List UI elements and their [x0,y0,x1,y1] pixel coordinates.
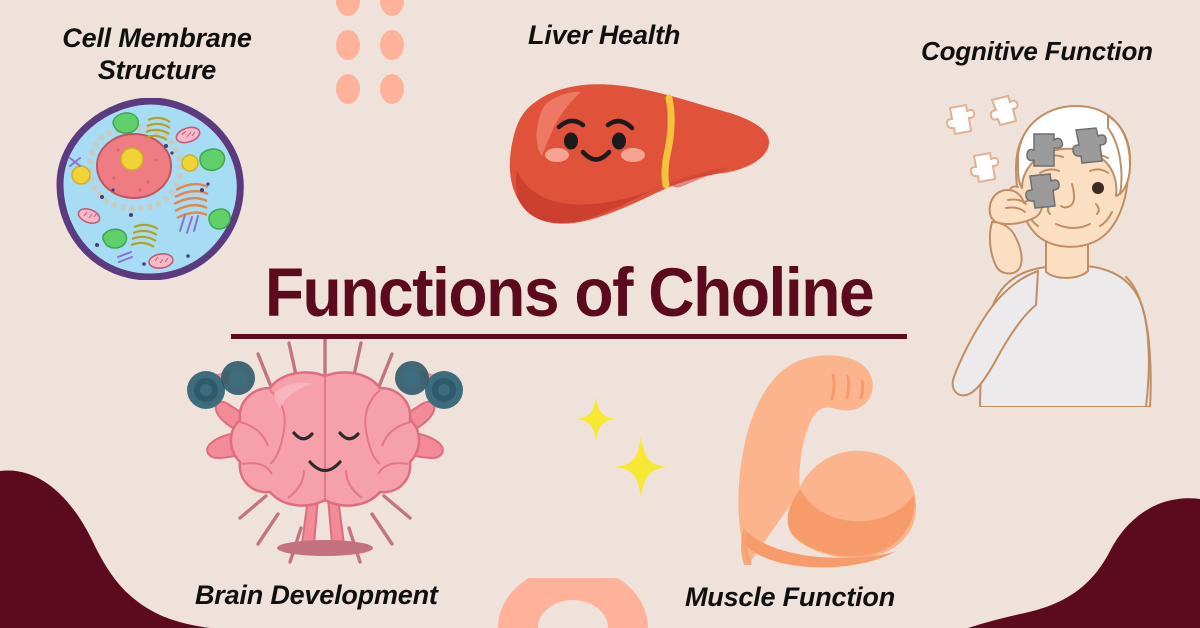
bottom-right-blob [968,498,1200,628]
sparkle-icon-large [614,436,668,498]
infographic-canvas: Cell Membrane Structure [0,0,1200,628]
label-cognitive-function: Cognitive Function [921,36,1153,67]
flexed-bicep-arm [700,355,930,570]
label-cell-membrane-structure: Cell Membrane Structure [26,23,288,87]
label-liver-health: Liver Health [528,20,680,52]
label-muscle-function: Muscle Function [685,582,895,614]
label-brain-development: Brain Development [195,580,438,612]
page-title: Functions of Choline [255,258,884,327]
dot-grid-decoration [336,0,410,104]
elderly-person-puzzle [930,72,1200,407]
donut-ring-decoration [498,578,648,628]
sparkle-icon-small [576,396,616,442]
puzzle-piece-floating [947,96,1018,182]
title-underline [231,334,907,339]
animal-cell-diagram [56,98,246,280]
main-title-block: Functions of Choline [231,258,907,339]
brain-lifting-dumbbells [170,338,480,573]
brain-body [231,372,419,505]
cartoon-liver-smiling [487,55,777,245]
